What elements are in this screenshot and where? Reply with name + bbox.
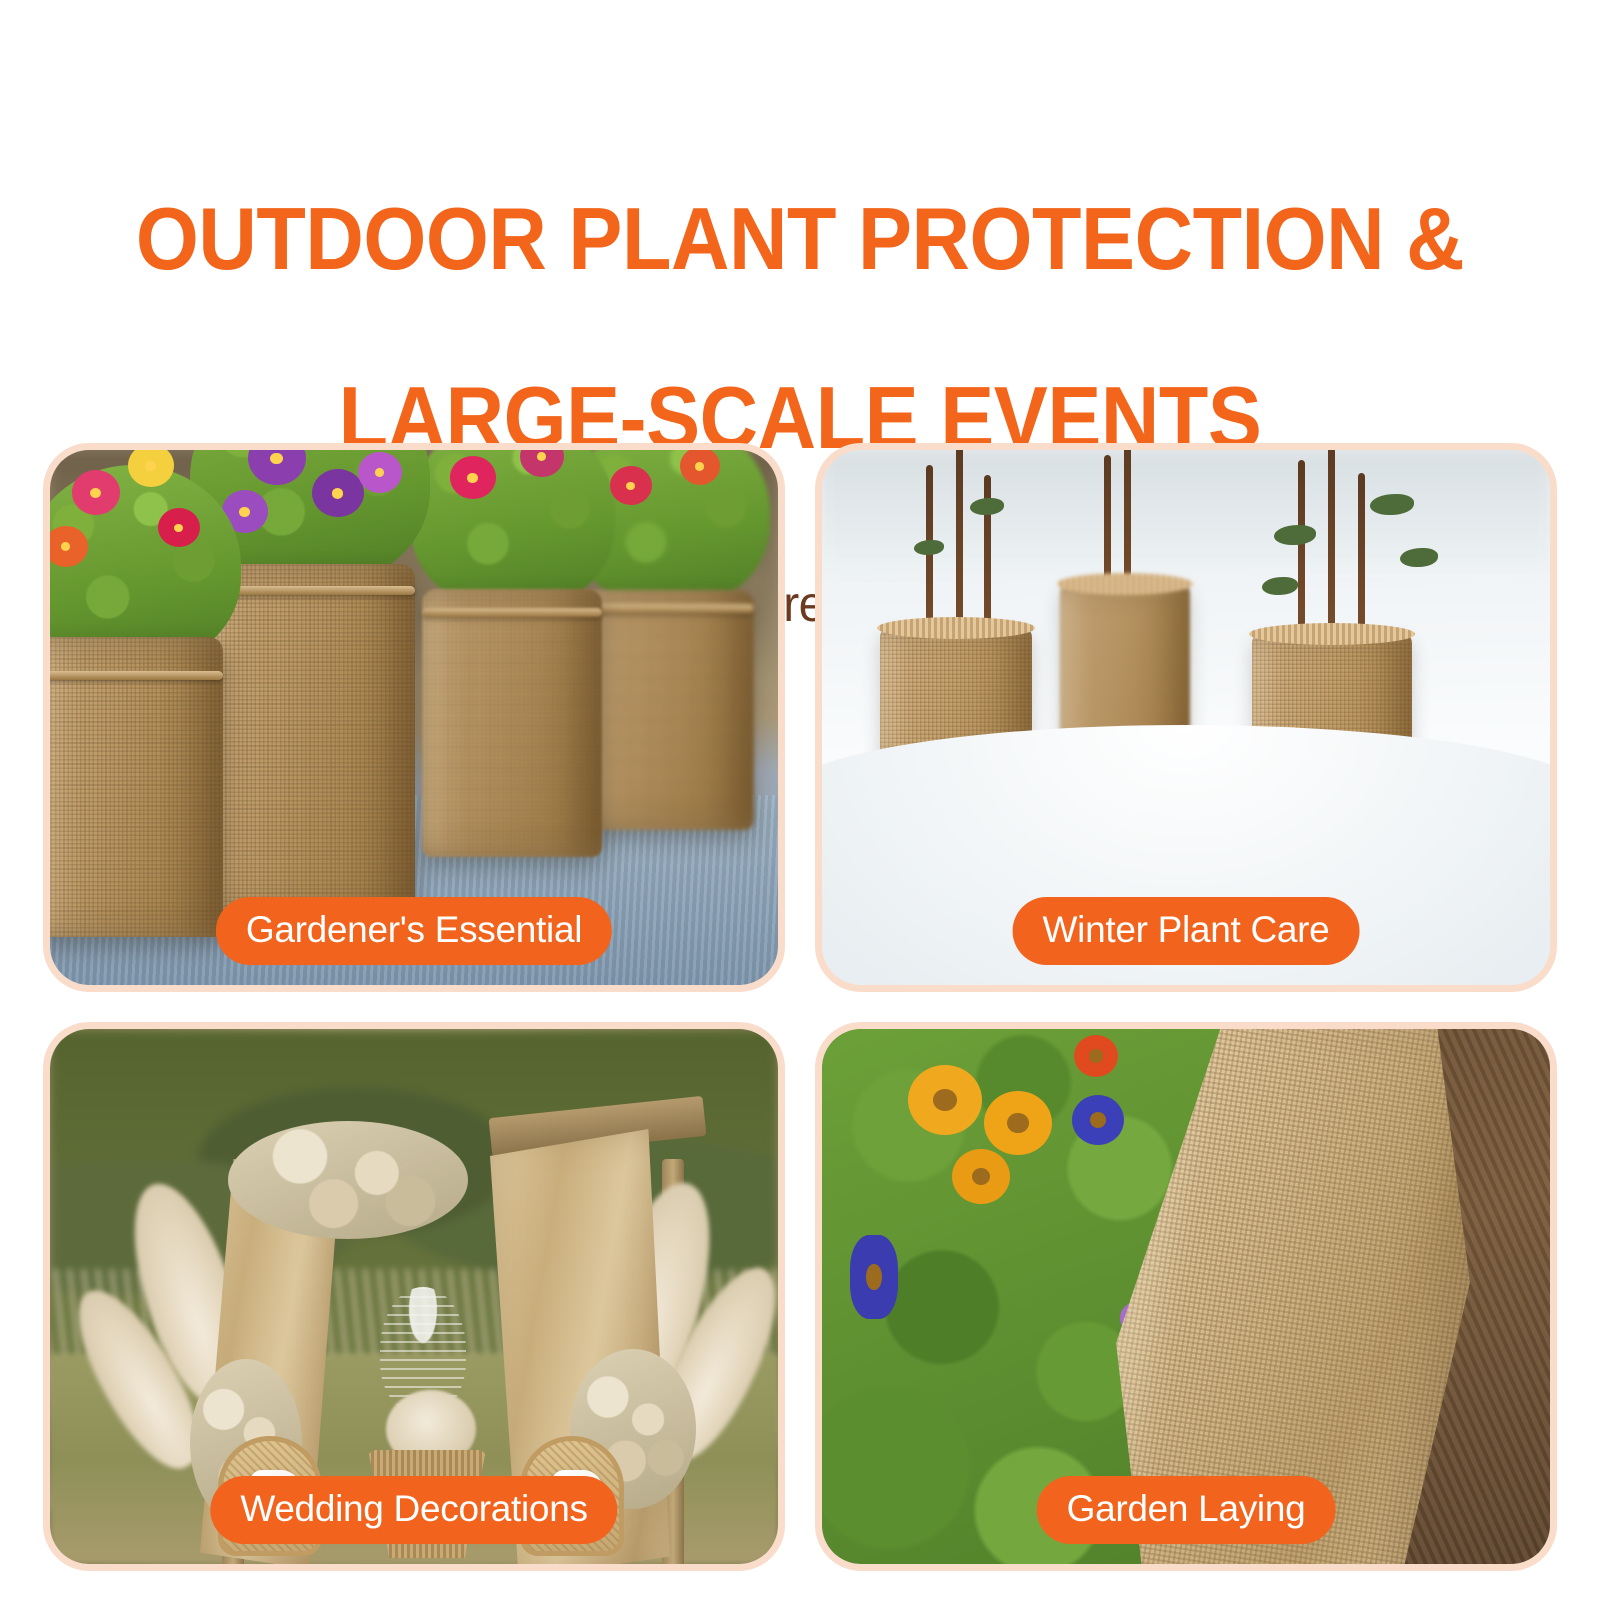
- blue-cornflower: [850, 1235, 898, 1319]
- pansy-blossom: [72, 470, 120, 515]
- card-wedding-decorations[interactable]: Wedding Decorations: [43, 1022, 785, 1571]
- card-garden-laying[interactable]: Garden Laying: [815, 1022, 1557, 1571]
- card-winter-plant-care[interactable]: Winter Plant Care: [815, 443, 1557, 992]
- plant-foliage: [410, 450, 615, 610]
- card-badge-label: Gardener's Essential: [216, 897, 612, 965]
- burlap-sack: [582, 590, 754, 830]
- blue-cornflower: [1072, 1095, 1124, 1145]
- pansy-blossom: [358, 452, 402, 493]
- burlap-sack: [200, 564, 415, 919]
- feature-card-grid: Gardener's Essential Winter Plan: [43, 443, 1557, 1553]
- orange-daisy: [984, 1091, 1052, 1155]
- twine-tie: [422, 608, 602, 617]
- twine-tie: [50, 671, 223, 680]
- twine-tie: [582, 604, 754, 613]
- red-poppy: [1074, 1035, 1118, 1077]
- orange-daisy: [952, 1149, 1010, 1204]
- pansy-blossom: [610, 466, 652, 505]
- burlap-sack: [50, 637, 223, 937]
- pansy-blossom: [450, 456, 496, 499]
- card-badge-label: Wedding Decorations: [210, 1476, 617, 1544]
- card-gardeners-essential[interactable]: Gardener's Essential: [43, 443, 785, 992]
- pansy-blossom: [158, 508, 200, 547]
- pansy-blossom: [312, 469, 364, 517]
- card-badge-label: Winter Plant Care: [1013, 897, 1360, 965]
- dried-floral-arrangement: [228, 1121, 468, 1239]
- burlap-sack: [422, 589, 602, 857]
- page-title-line-1: OUTDOOR PLANT PROTECTION &: [64, 194, 1536, 284]
- card-badge-label: Garden Laying: [1037, 1476, 1336, 1544]
- orange-daisy: [908, 1065, 982, 1135]
